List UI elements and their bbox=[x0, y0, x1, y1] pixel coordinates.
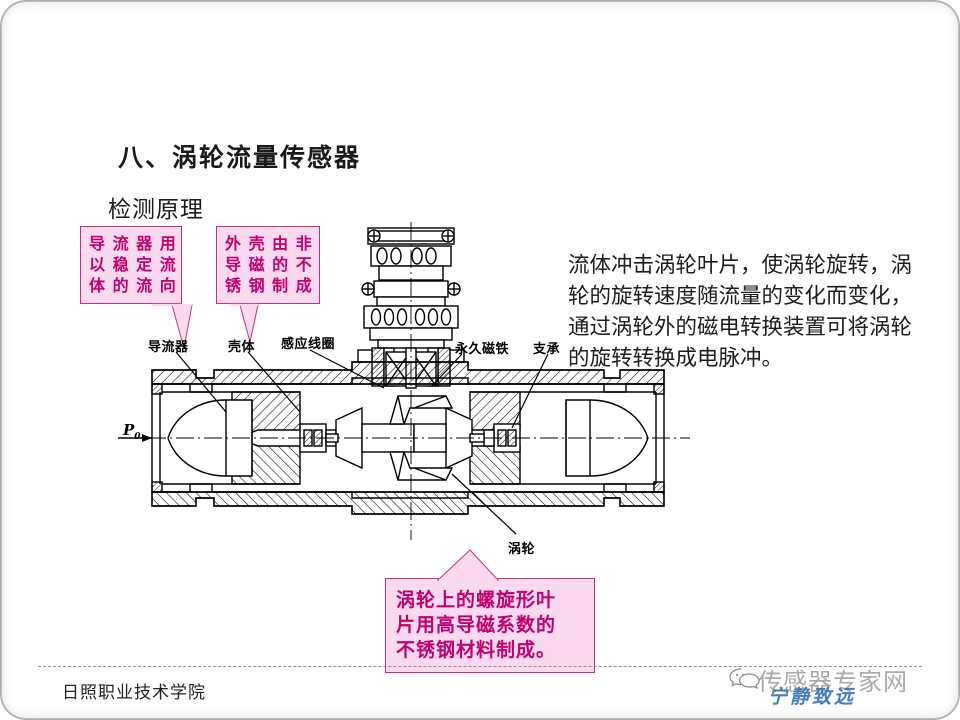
part-label-permanent-magnet: 永久磁铁 bbox=[455, 338, 509, 357]
callout-line: 以 稳 定 流 bbox=[89, 254, 173, 275]
principle-paragraph: 流体冲击涡轮叶片，使涡轮旋转，涡轮的旋转速度随流量的变化而变化，通过涡轮外的磁电… bbox=[568, 250, 928, 374]
part-label-housing: 壳体 bbox=[228, 336, 255, 355]
page-title: 八、涡轮流量传感器 bbox=[118, 138, 361, 174]
callout-line: 导 流 器 用 bbox=[89, 233, 173, 254]
callout-tail-rotor bbox=[436, 548, 516, 582]
callout-line: 导 磁 的 不 bbox=[225, 254, 311, 275]
wechat-icon bbox=[728, 666, 762, 692]
callout-line: 不锈钢材料制成。 bbox=[396, 638, 584, 663]
slide-canvas: 八、涡轮流量传感器 检测原理 流体冲击涡轮叶片，使涡轮旋转，涡轮的旋转速度随流量… bbox=[0, 0, 960, 720]
section-subtitle: 检测原理 bbox=[108, 190, 204, 224]
part-label-support-bearing: 支承 bbox=[533, 338, 560, 357]
footer-institution: 日照职业技术学院 bbox=[62, 678, 206, 703]
callout-line: 片用高导磁系数的 bbox=[396, 613, 584, 638]
part-label-induction-coil: 感应线圈 bbox=[281, 333, 335, 352]
callout-line: 体 的 流 向 bbox=[89, 275, 173, 296]
callout-housing-material: 外 壳 由 非 导 磁 的 不 锈 钢 制 成 bbox=[216, 226, 320, 304]
part-label-turbine-rotor: 涡轮 bbox=[508, 538, 535, 557]
callout-line: 外 壳 由 非 bbox=[225, 233, 311, 254]
callout-line: 锈 钢 制 成 bbox=[225, 275, 311, 296]
callout-line: 涡轮上的螺旋形叶 bbox=[396, 588, 584, 613]
pressure-subscript: 0 bbox=[134, 432, 140, 442]
callout-rotor-material: 涡轮上的螺旋形叶 片用高导磁系数的 不锈钢材料制成。 bbox=[385, 578, 595, 673]
inlet-pressure-label: P0 bbox=[123, 421, 141, 442]
part-label-flow-straightener: 导流器 bbox=[148, 336, 189, 355]
callout-flow-straightener: 导 流 器 用 以 稳 定 流 体 的 流 向 bbox=[80, 226, 182, 304]
pressure-symbol: P bbox=[123, 421, 134, 439]
watermark-slogan: 宁静致远 bbox=[768, 682, 856, 709]
